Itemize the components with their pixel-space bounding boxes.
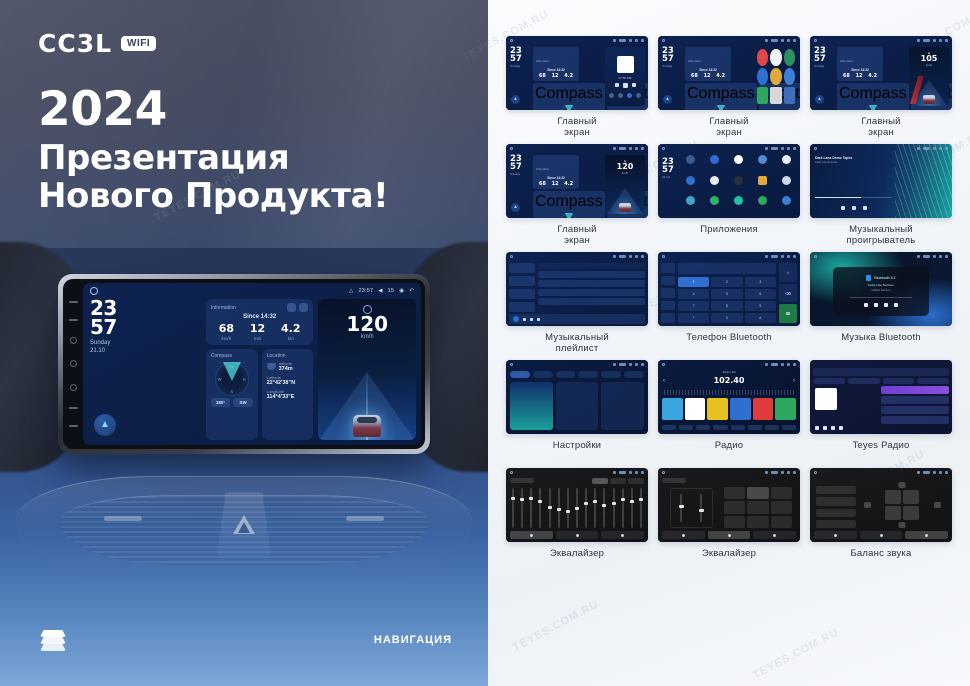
tab-balance[interactable]	[753, 531, 796, 539]
item-caption: Музыкальныйпроигрыватель	[847, 225, 916, 247]
side-key-1[interactable]	[69, 301, 78, 303]
head-unit-screen[interactable]: △ 23:57 ◀ 15 ◉ ↶ 23 57 Sunday	[83, 283, 421, 445]
gallery-item[interactable]: Stacjon FM ‹ › 102.40	[658, 360, 800, 463]
preset-button[interactable]	[724, 516, 745, 528]
dial-key[interactable]: 0	[711, 313, 742, 323]
home-icon[interactable]	[90, 287, 98, 295]
favorite-icon[interactable]	[839, 426, 843, 430]
dial-key[interactable]: 5	[711, 289, 742, 299]
preset-button[interactable]	[724, 487, 745, 499]
side-key-2[interactable]	[69, 319, 78, 321]
volume-icon: ◀	[378, 288, 382, 294]
road-visualization	[318, 350, 416, 440]
settings-cards[interactable]	[510, 382, 644, 430]
eq-slider[interactable]	[576, 488, 578, 528]
item-caption: Музыка Bluetooth	[841, 333, 921, 355]
dial-key[interactable]: 2	[711, 277, 742, 287]
app-icon	[770, 68, 781, 85]
preset-station[interactable]	[685, 398, 706, 420]
tab-system[interactable]	[601, 371, 621, 378]
dialed-number-display	[678, 263, 776, 274]
tab-eq[interactable]	[510, 531, 553, 539]
previous-icon[interactable]	[523, 318, 526, 321]
wifi-badge: WIFI	[121, 36, 156, 51]
product-logo: CC3L WIFI	[38, 31, 156, 56]
band-button[interactable]	[662, 425, 676, 430]
balance-up-button[interactable]	[899, 482, 906, 488]
previous-icon[interactable]	[815, 426, 819, 430]
radio-frequency: 102.40	[658, 376, 800, 385]
audio-tabs[interactable]	[510, 531, 644, 539]
album-art	[815, 388, 837, 410]
navigation-arrow-icon: ▲	[815, 95, 824, 104]
balance-right-button[interactable]	[934, 502, 941, 508]
screenshot-thumbnail[interactable]: 1 2 3 4 5 6 7 8 9 * 0 #	[658, 252, 800, 326]
track-title: Dark Lane Demo Tapes	[815, 156, 892, 160]
gallery-row: Эквалайзер	[506, 468, 952, 571]
gallery-row: 23 57 Sunday ▲ Information Since 14:32 6…	[506, 36, 952, 139]
playlist-rows[interactable]	[538, 263, 645, 312]
preset-button[interactable]	[747, 501, 768, 513]
compass-values: 180° SW	[211, 398, 253, 407]
preset-station[interactable]	[662, 398, 683, 420]
eq-slider[interactable]	[567, 488, 569, 528]
eq-slider[interactable]	[512, 488, 514, 528]
tab-wifi[interactable]	[510, 371, 530, 378]
list-header	[538, 263, 645, 269]
dial-key[interactable]: 7	[678, 301, 709, 311]
location-card[interactable]: Location Altitude 374m	[262, 349, 314, 440]
mountain-icon	[267, 363, 276, 370]
playback-controls[interactable]	[815, 426, 843, 430]
eq-slider[interactable]	[622, 488, 624, 528]
trip-stats: 68 km/h 12 min 4.2	[211, 323, 309, 341]
settings-icon[interactable]	[287, 303, 296, 312]
item-caption: Настройки	[553, 441, 601, 463]
stop-icon[interactable]	[823, 426, 827, 430]
dial-key[interactable]: #	[745, 313, 776, 323]
play-pause-icon[interactable]	[874, 303, 878, 307]
item-caption: Главныйэкран	[861, 117, 900, 139]
dial-key[interactable]: 3	[745, 277, 776, 287]
teyes-radio-header[interactable]	[813, 368, 949, 376]
screenshot-thumbnail[interactable]: 23 57 Sunday ▲ Information Since 14:32 6…	[810, 36, 952, 110]
media-panel: 07:50 PM	[605, 47, 645, 106]
item-caption: Главныйэкран	[709, 117, 748, 139]
preset-button[interactable]	[747, 487, 768, 499]
gallery-item[interactable]: Баланс звука	[810, 468, 952, 571]
gallery-item[interactable]: 23 57 Sunday ▲ Information Since 14:32 6…	[506, 36, 648, 139]
adas-speed: 105	[921, 55, 938, 63]
app-icon	[757, 87, 768, 104]
screenshot-thumbnail[interactable]	[506, 252, 648, 326]
preset-station[interactable]	[707, 398, 728, 420]
widgets-column: Information Since 14:32	[206, 299, 314, 440]
app-icon	[770, 49, 781, 66]
preset-station[interactable]	[730, 398, 751, 420]
refresh-icon[interactable]	[299, 303, 308, 312]
secondary-widgets: Compass N S E W	[206, 349, 314, 440]
tab-apps[interactable]	[578, 371, 598, 378]
audio-tabs[interactable]	[814, 531, 948, 539]
gallery-item[interactable]: 23 57 Sunday ▲ Information Since 14:32 6…	[810, 36, 952, 139]
watermark: TEYES.COM.RU	[751, 626, 841, 682]
station-list[interactable]	[881, 386, 949, 431]
tab-display[interactable]	[556, 371, 576, 378]
back-key[interactable]	[70, 384, 77, 391]
dial-key[interactable]: 9	[745, 301, 776, 311]
visualizer-graphic	[895, 144, 952, 218]
app-shortcut-panel	[755, 47, 797, 106]
gallery-item[interactable]: Музыкальныйплейлист	[506, 252, 648, 355]
stop-icon[interactable]	[884, 303, 888, 307]
dial-key[interactable]: 6	[745, 289, 776, 299]
more-card[interactable]	[601, 382, 644, 430]
list-item[interactable]	[538, 298, 645, 305]
hotspot-card[interactable]	[556, 382, 599, 430]
gallery-row: Настройки Stacjon FM ‹ › 102.40	[506, 360, 952, 463]
album-art	[513, 316, 519, 322]
level-sliders[interactable]	[670, 488, 713, 528]
item-caption: Teyes Радио	[852, 441, 909, 463]
clock-date: 21.10	[90, 348, 201, 356]
eq-slider[interactable]	[594, 488, 596, 528]
gallery-item[interactable]: 23 57 21.10	[658, 144, 800, 247]
stat-duration: 12 min	[250, 323, 265, 341]
app-icon	[757, 68, 768, 85]
tuning-scale[interactable]	[664, 390, 794, 395]
dial-key[interactable]: *	[678, 313, 709, 323]
latitude-value: 22°42'38"N	[267, 380, 309, 386]
speaker-front-left	[885, 490, 901, 504]
radio-presets[interactable]	[662, 398, 796, 420]
speaker-rear-left	[885, 506, 901, 520]
list-item[interactable]	[538, 280, 645, 287]
preset-grid[interactable]	[724, 487, 792, 528]
screenshot-thumbnail[interactable]: Bluetooth 5.1 Feels Like Summer Childish…	[810, 252, 952, 326]
screenshot-thumbnail[interactable]: 23 57 Sunday ▲ Information Since 14:32 6…	[506, 36, 648, 110]
clock-widget: 23 57 Sunday 21.10 ▲	[90, 299, 201, 440]
dial-key[interactable]: 8	[711, 301, 742, 311]
screenshot-thumbnail[interactable]	[810, 468, 952, 542]
speed-value: 120	[617, 163, 634, 171]
item-caption: Радио	[715, 441, 743, 463]
list-icon[interactable]	[696, 425, 710, 430]
item-caption: Главныйэкран	[557, 225, 596, 247]
home-key[interactable]	[70, 360, 77, 367]
preset-button[interactable]	[724, 501, 745, 513]
preset-name	[662, 478, 686, 483]
car-graphic	[353, 415, 381, 437]
stat-distance: 4.2 km	[281, 323, 301, 341]
previous-icon[interactable]	[841, 206, 845, 210]
head-unit-frame: △ 23:57 ◀ 15 ◉ ↶ 23 57 Sunday	[63, 279, 425, 449]
phone-actions[interactable]: ☆ ⌫ ☎	[779, 263, 797, 323]
eq-slider[interactable]	[558, 488, 560, 528]
thumb-clock-minutes: 57	[510, 55, 522, 63]
preset-button[interactable]	[816, 497, 856, 505]
watermark: TEYES.COM.RU	[511, 598, 601, 654]
app-icon	[784, 68, 795, 85]
wifi-card[interactable]	[510, 382, 553, 430]
wifi-icon: △	[349, 288, 353, 294]
eq-preset[interactable]	[592, 478, 608, 484]
tab-eq[interactable]	[662, 531, 705, 539]
compass-heading: 180°	[211, 398, 230, 407]
track-title: Feels Like Summer	[868, 283, 894, 287]
trip-since-label: Since 14:32	[211, 314, 309, 320]
thumb-day: Sunday	[510, 65, 522, 69]
speed-unit: km/h	[622, 171, 628, 175]
progress-bar[interactable]	[850, 297, 912, 298]
navigation-arrow-icon: ▲	[663, 95, 672, 104]
bluetooth-version: Bluetooth 5.1	[874, 276, 895, 280]
status-time: 23:57	[358, 288, 373, 294]
volume-up-key[interactable]	[69, 425, 78, 427]
settings-tabs[interactable]	[510, 371, 644, 378]
screenshot-thumbnail[interactable]	[658, 468, 800, 542]
star-icon[interactable]: ☆	[779, 263, 797, 282]
eq-slider[interactable]	[631, 488, 633, 528]
preset-station[interactable]	[753, 398, 774, 420]
app-icon	[770, 87, 781, 104]
gallery-grid: 23 57 Sunday ▲ Information Since 14:32 6…	[506, 36, 952, 571]
item-caption: Телефон Bluetooth	[686, 333, 772, 355]
compass-direction: SW	[233, 398, 252, 407]
tab-about[interactable]	[624, 371, 644, 378]
gallery-item[interactable]: Dark Lane Demo Tapes Feels Like Summer	[810, 144, 952, 247]
brand-layers-logo	[40, 630, 66, 650]
power-key[interactable]	[70, 337, 77, 344]
play-pause-icon[interactable]	[530, 318, 533, 321]
gallery-item[interactable]: 1 2 3 4 5 6 7 8 9 * 0 #	[658, 252, 800, 355]
progress-bar[interactable]	[815, 197, 892, 198]
head-unit-side-keys[interactable]	[63, 283, 83, 445]
item-caption: Музыкальныйплейлист	[545, 333, 609, 355]
preset-button[interactable]	[816, 486, 856, 494]
speed-panel[interactable]: 120 km/h	[318, 299, 416, 440]
balance-presets[interactable]	[816, 486, 856, 528]
level-slider[interactable]	[700, 494, 702, 521]
playback-controls[interactable]	[864, 303, 898, 307]
altitude-row: Altitude 374m	[267, 361, 309, 372]
loc-icon[interactable]	[748, 425, 762, 430]
speaker-rear-right	[903, 506, 919, 520]
playlist-sidebar[interactable]	[509, 263, 535, 312]
eq-icon[interactable]	[713, 425, 727, 430]
item-caption: Приложения	[700, 225, 758, 247]
eq-slider[interactable]	[603, 488, 605, 528]
item-caption: Эквалайзер	[702, 549, 756, 571]
altitude-value: 374m	[279, 366, 293, 372]
dial-pad[interactable]: 1 2 3 4 5 6 7 8 9 * 0 #	[678, 277, 776, 323]
eq-preset[interactable]	[628, 478, 644, 484]
thumb-info-label: Information	[536, 60, 549, 63]
longitude-row: Longitude 114°4'33"E	[267, 389, 309, 400]
app-drawer-grid	[680, 155, 797, 215]
home-icon	[510, 39, 513, 42]
eq-slider[interactable]	[613, 488, 615, 528]
tab-balance[interactable]	[601, 531, 644, 539]
balance-pad[interactable]	[864, 482, 941, 528]
navigation-arrow-icon: ▲	[511, 203, 520, 212]
thumb-since: Since 14:32	[536, 68, 576, 72]
screenshot-thumbnail[interactable]	[506, 360, 648, 434]
playback-controls[interactable]	[815, 206, 892, 210]
now-playing-bar[interactable]	[509, 314, 645, 324]
item-caption: Эквалайзер	[550, 549, 604, 571]
dial-key[interactable]: 4	[678, 289, 709, 299]
hero-year: 2024	[38, 86, 388, 133]
item-caption: Главныйэкран	[557, 117, 596, 139]
screenshot-thumbnail[interactable]: Dark Lane Demo Tapes Feels Like Summer	[810, 144, 952, 218]
home-screen-body: 23 57 Sunday 21.10 ▲ Information	[83, 299, 421, 445]
hero-line-1: Презентация	[38, 139, 388, 177]
tab-sound-field[interactable]	[708, 531, 751, 539]
latitude-row: Latitude 22°42'38"N	[267, 375, 309, 386]
adas-panel: ◉ 105 km/h	[909, 47, 949, 106]
preset-button[interactable]	[771, 501, 792, 513]
dial-key[interactable]: 1	[678, 277, 709, 287]
preset-button[interactable]	[747, 516, 768, 528]
volume-down-key[interactable]	[69, 407, 78, 409]
level-slider[interactable]	[680, 494, 682, 521]
product-logo-text: CC3L	[38, 31, 112, 56]
list-item[interactable]	[538, 271, 645, 278]
clock-minutes: 57	[90, 318, 201, 337]
list-item[interactable]	[881, 406, 949, 414]
app-icon	[784, 49, 795, 66]
navigation-arrow-icon: ▲	[511, 95, 520, 104]
list-item[interactable]	[881, 416, 949, 424]
settings-icon[interactable]	[765, 425, 779, 430]
tab-sound-field[interactable]	[556, 531, 599, 539]
eq-slider[interactable]	[530, 488, 532, 528]
screenshot-gallery: TEYES.COM.RU TEYES.COM.RU TEYES.COM.RU T…	[488, 0, 970, 686]
hero-panel: TEYES.COM.RU TEYES.COM.RU TEYES.COM.RU T…	[0, 0, 488, 686]
gallery-item[interactable]: 23 57 Sunday ▲ Information Since 14:32 6…	[658, 36, 800, 139]
apps-icon[interactable]	[782, 425, 796, 430]
eq-slider[interactable]	[585, 488, 587, 528]
gallery-item[interactable]: Teyes Радио	[810, 360, 952, 463]
stat-speed: 68 km/h	[219, 323, 234, 341]
information-card-title: Information	[211, 305, 236, 311]
backspace-icon[interactable]: ⌫	[779, 284, 797, 303]
gallery-item[interactable]: 23 57 Sunday ▲ Information Since 14:32 6…	[506, 144, 648, 247]
tab-balance[interactable]	[905, 531, 948, 539]
bluetooth-music-card: Bluetooth 5.1 Feels Like Summer Childish…	[833, 267, 930, 316]
gallery-item[interactable]: Настройки	[506, 360, 648, 463]
gallery-item[interactable]: Эквалайзер	[658, 468, 800, 571]
preset-button[interactable]	[816, 520, 856, 528]
next-icon[interactable]	[894, 303, 898, 307]
presentation-slide: TEYES.COM.RU TEYES.COM.RU TEYES.COM.RU T…	[0, 0, 970, 686]
eq-slider[interactable]	[521, 488, 523, 528]
track-artist: Childish Gambino	[872, 289, 891, 292]
next-icon[interactable]	[537, 318, 540, 321]
screenshot-thumbnail[interactable]: Stacjon FM ‹ › 102.40	[658, 360, 800, 434]
list-item[interactable]	[538, 289, 645, 296]
car-dashboard-scene: △ 23:57 ◀ 15 ◉ ↶ 23 57 Sunday	[0, 248, 488, 686]
speed-panel: ◉ 120 km/h	[605, 155, 645, 214]
screenshot-thumbnail[interactable]: 23 57 21.10	[658, 144, 800, 218]
footer-label: НАВИГАЦИЯ	[374, 634, 452, 646]
tab-eq[interactable]	[814, 531, 857, 539]
bluetooth-icon	[866, 275, 871, 281]
preset-button[interactable]	[816, 509, 856, 517]
compass-card-title: Compass	[211, 353, 253, 359]
screenshot-thumbnail[interactable]	[810, 360, 952, 434]
preset-button[interactable]	[771, 487, 792, 499]
status-bar: △ 23:57 ◀ 15 ◉ ↶	[83, 283, 421, 299]
eq-slider[interactable]	[539, 488, 541, 528]
preset-button[interactable]	[771, 516, 792, 528]
navigation-arrow-icon[interactable]: ▲	[94, 414, 116, 436]
gallery-item[interactable]: Эквалайзер	[506, 468, 648, 571]
station-info	[840, 388, 868, 390]
next-icon[interactable]	[863, 206, 867, 210]
clock-day: Sunday	[90, 340, 201, 348]
compass-card[interactable]: Compass N S E W	[206, 349, 258, 440]
next-icon[interactable]	[831, 426, 835, 430]
gallery-row: 23 57 Sunday ▲ Information Since 14:32 6…	[506, 144, 952, 247]
app-icon	[757, 49, 768, 66]
album-art	[617, 56, 634, 73]
compass-s: S	[230, 389, 233, 394]
vent-slot-left	[104, 516, 142, 521]
phone-icon[interactable]: ☎	[779, 304, 797, 323]
teyes-radio-filters[interactable]	[813, 378, 949, 384]
screenshot-thumbnail[interactable]: 23 57 Sunday ▲ Information Since 14:32 6…	[506, 144, 648, 218]
previous-icon[interactable]	[864, 303, 868, 307]
hazard-button[interactable]	[217, 492, 271, 556]
layers-icon	[40, 630, 66, 650]
eq-preset[interactable]	[610, 478, 626, 484]
audio-tabs[interactable]	[662, 531, 796, 539]
balance-down-button[interactable]	[899, 522, 906, 528]
tab-sound-field[interactable]	[860, 531, 903, 539]
speed-value: 120	[346, 314, 388, 335]
play-pause-icon[interactable]	[852, 206, 856, 210]
compass-w: W	[218, 377, 222, 382]
screenshot-thumbnail[interactable]: 23 57 Sunday ▲ Information Since 14:32 6…	[658, 36, 800, 110]
information-card[interactable]: Information Since 14:32	[206, 299, 314, 345]
list-item[interactable]	[881, 396, 949, 404]
search-icon[interactable]	[679, 425, 693, 430]
equalizer-sliders[interactable]	[512, 488, 642, 528]
tab-sound[interactable]	[533, 371, 553, 378]
preset-station[interactable]	[775, 398, 796, 420]
list-item[interactable]	[881, 386, 949, 394]
eq-slider[interactable]	[549, 488, 551, 528]
back-icon[interactable]: ↶	[409, 288, 414, 294]
gallery-item[interactable]: Bluetooth 5.1 Feels Like Summer Childish…	[810, 252, 952, 355]
phone-sidebar[interactable]	[661, 263, 675, 323]
hero-title: 2024 Презентация Нового Продукта!	[38, 86, 388, 215]
radio-toolbar[interactable]	[662, 424, 796, 431]
screenshot-thumbnail[interactable]	[506, 468, 648, 542]
adas-speed-unit: km/h	[926, 63, 932, 67]
hero-line-2: Нового Продукта!	[38, 177, 388, 215]
capture-icon[interactable]: ◉	[399, 288, 404, 294]
track-artist: Feels Like Summer	[815, 161, 892, 164]
rds-icon[interactable]	[731, 425, 745, 430]
gallery-row: Музыкальныйплейлист 1 2 3 4	[506, 252, 952, 355]
eq-slider[interactable]	[640, 488, 642, 528]
hazard-triangle-icon	[233, 515, 255, 534]
radio-band-label: Stacjon FM	[658, 371, 800, 374]
balance-left-button[interactable]	[864, 502, 871, 508]
